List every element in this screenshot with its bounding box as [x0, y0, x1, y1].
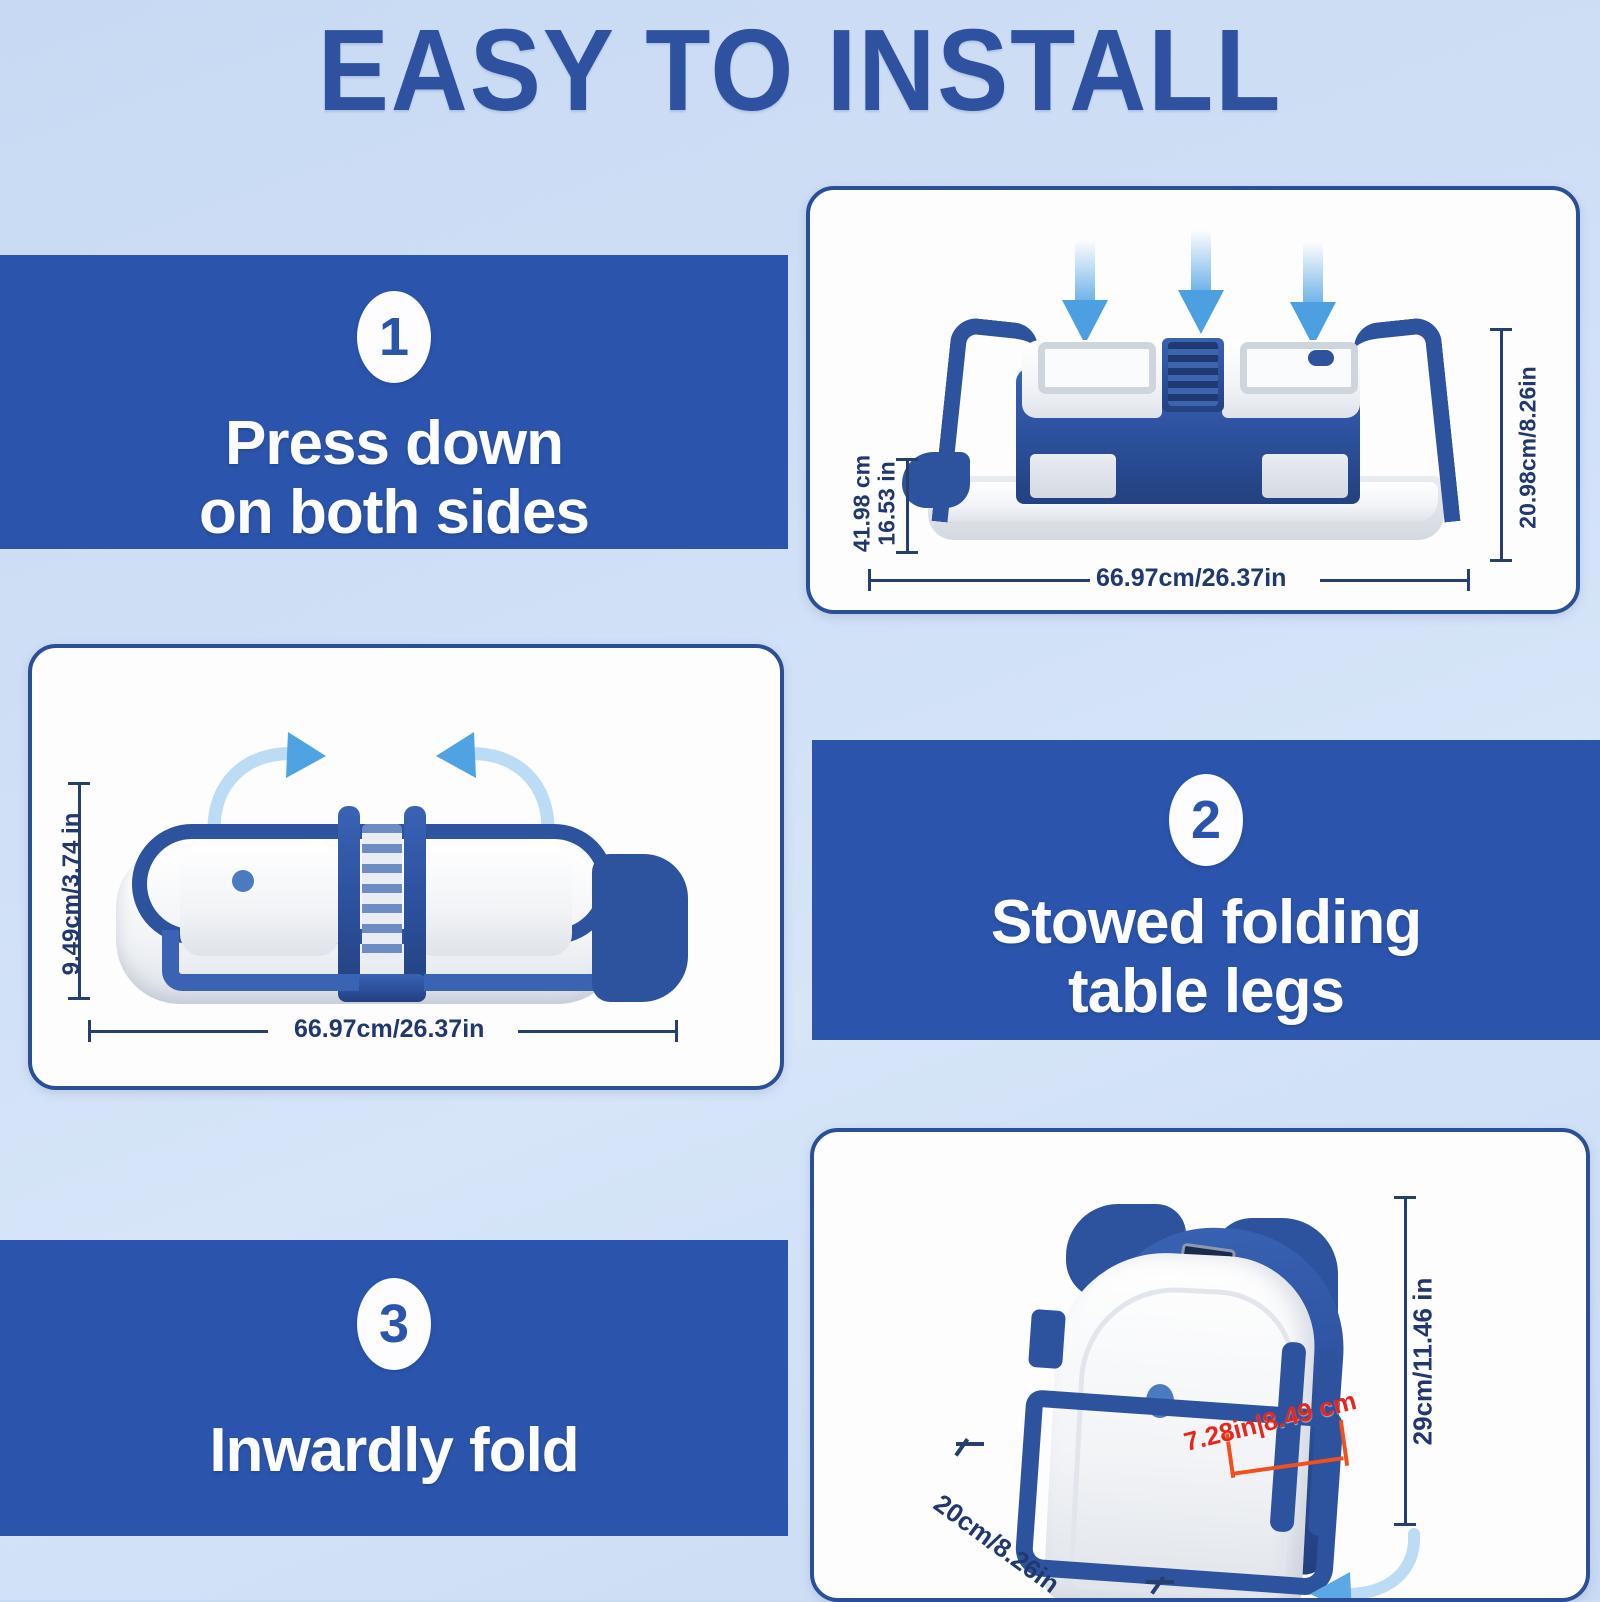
- arrow-tail: [1303, 242, 1323, 306]
- step-caption-2-line1: Stowed folding: [991, 888, 1421, 957]
- drain-knob: [1308, 350, 1334, 366]
- fold-arrow-left: [202, 726, 332, 836]
- step-number-badge-1: 1: [357, 291, 431, 383]
- step-caption-1-line2: on both sides: [199, 478, 589, 547]
- folded-leg-right: [404, 806, 426, 998]
- step-number-badge-2: 2: [1169, 774, 1243, 866]
- dim-label-left-in-1: 16.53 in: [874, 449, 901, 559]
- dim-label-right-3: 29cm/11.46 in: [1408, 1257, 1439, 1467]
- step-caption-1: Press down on both sides: [199, 409, 589, 548]
- fold-arrow-right: [430, 726, 560, 836]
- dim-line-bottom-right-2: [518, 1030, 678, 1033]
- step-caption-1-line1: Press down: [199, 409, 589, 478]
- page-title: EASY TO INSTALL: [64, 6, 1536, 134]
- collapsed-tub-wheel: [592, 854, 688, 1002]
- dim-cap-bottom-left-2: [88, 1020, 91, 1042]
- lid-recess-left: [1038, 342, 1156, 394]
- dim-cap-right-top-1: [1490, 328, 1512, 331]
- fold-pad-left-hole: [232, 870, 254, 892]
- folded-hinge-left: [1028, 1309, 1066, 1369]
- tub-center-ribs: [1168, 342, 1218, 406]
- dim-label-bottom-1: 66.97cm/26.37in: [1096, 564, 1286, 593]
- dim-line-right-1: [1500, 328, 1503, 562]
- arrow-tail: [1075, 240, 1095, 304]
- dim-cap-left-bottom-2: [68, 997, 90, 1000]
- fold-in-arrow-3: [1290, 1528, 1430, 1602]
- product-photo-card-2: 9.49cm/3.74 in 66.97cm/26.37in: [28, 644, 784, 1090]
- lid-recess-right: [1240, 342, 1358, 394]
- dim-line-bottom-right-1: [1320, 579, 1470, 582]
- product-illustration-3: 7.28in|8.49 cm 29cm/11.46 in 20cm/8.26in: [814, 1132, 1586, 1598]
- step-caption-3: Inwardly fold: [209, 1416, 578, 1485]
- product-illustration-2: 9.49cm/3.74 in 66.97cm/26.37in: [32, 648, 780, 1086]
- arrow-head: [1062, 300, 1108, 344]
- step-number-badge-3: 3: [357, 1278, 431, 1370]
- dim-cap-right-top-3: [1394, 1196, 1416, 1199]
- dim-cap-left-top-2: [68, 782, 90, 785]
- dim-label-bottom-2: 66.97cm/26.37in: [294, 1015, 484, 1044]
- product-photo-card-3: 7.28in|8.49 cm 29cm/11.46 in 20cm/8.26in: [810, 1128, 1590, 1602]
- dim-cap-bottom-right-1: [1467, 569, 1470, 591]
- step-caption-2: Stowed folding table legs: [991, 888, 1421, 1027]
- dim-cap-bottom-left-1: [868, 569, 871, 591]
- step-block-1: 1 Press down on both sides: [0, 255, 788, 549]
- product-photo-card-1: 41.98 cm 16.53 in 20.98cm/8.26in 66.97cm…: [806, 186, 1580, 614]
- dim-label-left-2: 9.49cm/3.74 in: [58, 794, 86, 994]
- dim-label-left-cm-1: 41.98 cm: [849, 449, 876, 559]
- tub-foot-right: [1262, 454, 1348, 498]
- dim-line-left-1: [906, 458, 909, 554]
- step-block-2: 2 Stowed folding table legs: [812, 740, 1600, 1040]
- dim-cap-right-bottom-1: [1490, 559, 1512, 562]
- step-caption-2-line2: table legs: [991, 957, 1421, 1026]
- product-illustration-1: 41.98 cm 16.53 in 20.98cm/8.26in 66.97cm…: [810, 190, 1576, 610]
- step-caption-3-line1: Inwardly fold: [209, 1416, 578, 1485]
- leg-vent-slots: [362, 824, 402, 960]
- dim-line-bottom-left-2: [88, 1030, 268, 1033]
- dim-label-right-1: 20.98cm/8.26in: [1515, 338, 1542, 558]
- dim-cap-right-bottom-3: [1394, 1523, 1416, 1526]
- dim-line-bottom-left-1: [868, 579, 1090, 582]
- tub-foot-left: [1030, 454, 1116, 498]
- folded-arm-left: [162, 930, 359, 991]
- arrow-head: [1178, 290, 1224, 334]
- dim-cap-bottom-right-2: [675, 1020, 678, 1042]
- arrow-tail: [1191, 230, 1211, 294]
- step-block-3: 3 Inwardly fold: [0, 1240, 788, 1536]
